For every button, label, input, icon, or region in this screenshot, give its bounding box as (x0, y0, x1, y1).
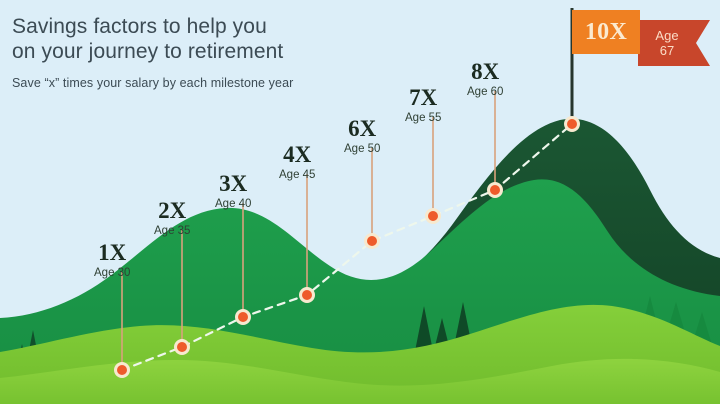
flag-factor-block: 10X (572, 10, 640, 54)
milestone-factor-6x: 6X (344, 117, 380, 141)
milestone-age-4x: Age 45 (279, 168, 315, 182)
dot-core (367, 236, 377, 246)
dot-core (567, 119, 577, 129)
dot-core (302, 290, 312, 300)
milestone-age-8x: Age 60 (467, 85, 503, 99)
milestone-label-7x[interactable]: 7XAge 55 (405, 86, 441, 125)
milestone-age-3x: Age 40 (215, 197, 251, 211)
flag-age-ribbon: Age 67 (638, 20, 710, 66)
milestone-age-2x: Age 35 (154, 224, 190, 238)
dot-core (177, 342, 187, 352)
milestone-dot-6x[interactable] (364, 233, 380, 249)
milestone-factor-2x: 2X (154, 199, 190, 223)
milestone-dot-3x[interactable] (235, 309, 251, 325)
milestone-factor-4x: 4X (279, 143, 315, 167)
milestone-dot-4x[interactable] (299, 287, 315, 303)
milestone-dot-2x[interactable] (174, 339, 190, 355)
flag-age-text: Age 67 (638, 20, 696, 66)
infographic-canvas: Savings factors to help you on your jour… (0, 0, 720, 404)
milestone-age-7x: Age 55 (405, 111, 441, 125)
page-title-line-2: on your journey to retirement (12, 39, 432, 64)
dot-core (428, 211, 438, 221)
milestone-factor-8x: 8X (467, 60, 503, 84)
milestone-label-4x[interactable]: 4XAge 45 (279, 143, 315, 182)
milestone-label-2x[interactable]: 2XAge 35 (154, 199, 190, 238)
milestone-age-6x: Age 50 (344, 142, 380, 156)
dot-core (238, 312, 248, 322)
milestone-dot-10x[interactable] (564, 116, 580, 132)
milestone-label-8x[interactable]: 8XAge 60 (467, 60, 503, 99)
milestone-label-1x[interactable]: 1XAge 30 (94, 241, 130, 280)
milestone-age-1x: Age 30 (94, 266, 130, 280)
header-block: Savings factors to help you on your jour… (12, 14, 432, 90)
milestone-dot-8x[interactable] (487, 182, 503, 198)
milestone-label-6x[interactable]: 6XAge 50 (344, 117, 380, 156)
dot-core (490, 185, 500, 195)
milestone-factor-3x: 3X (215, 172, 251, 196)
page-title-line-1: Savings factors to help you (12, 14, 432, 39)
milestone-dot-7x[interactable] (425, 208, 441, 224)
milestone-dot-1x[interactable] (114, 362, 130, 378)
flag-age-label: Age (655, 28, 678, 43)
page-subtitle: Save “x” times your salary by each miles… (12, 76, 432, 90)
milestone-factor-1x: 1X (94, 241, 130, 265)
flag-age-value: 67 (660, 43, 674, 58)
dot-core (117, 365, 127, 375)
flag-factor-text: 10X (585, 19, 627, 46)
milestone-label-3x[interactable]: 3XAge 40 (215, 172, 251, 211)
